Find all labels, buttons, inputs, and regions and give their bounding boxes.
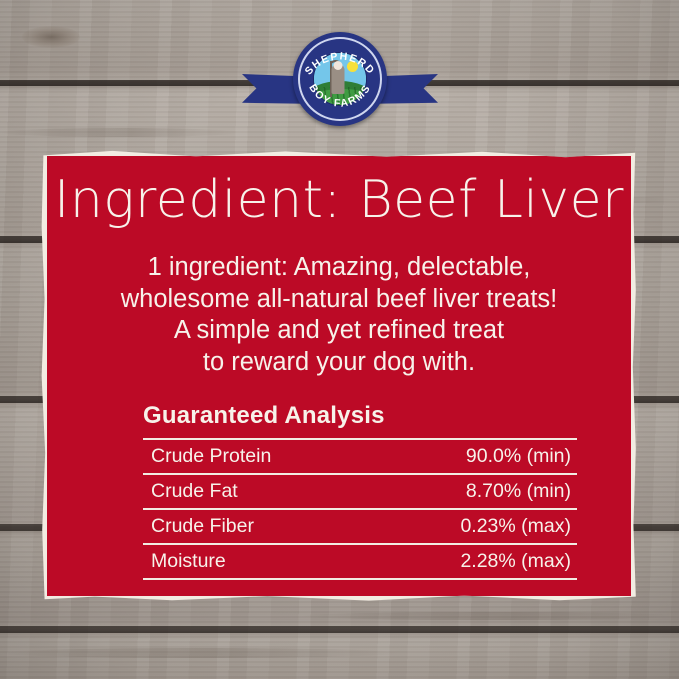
analysis-nutrient-value: 2.28% (max) (460, 550, 571, 573)
product-label-card: Ingredient: Beef Liver 1 ingredient: Ama… (41, 150, 637, 602)
brand-logo: SHEPHERD BOY FARMS (236, 32, 444, 128)
description-line: A simple and yet refined treat (73, 315, 605, 347)
analysis-nutrient-value: 0.23% (max) (460, 515, 571, 538)
guaranteed-analysis-table: Guaranteed Analysis Crude Protein 90.0% … (143, 402, 577, 580)
sun-icon (347, 61, 358, 72)
table-row: Moisture 2.28% (max) (143, 545, 577, 578)
wood-grain-streak (0, 648, 400, 658)
description-line: wholesome all-natural beef liver treats! (73, 284, 605, 316)
product-description: 1 ingredient: Amazing, delectable, whole… (73, 252, 605, 378)
logo-badge: SHEPHERD BOY FARMS (293, 32, 387, 126)
wood-knot (22, 26, 80, 48)
page-title: Ingredient: Beef Liver (47, 174, 631, 226)
table-row: Crude Protein 90.0% (min) (143, 440, 577, 473)
analysis-nutrient-name: Crude Protein (151, 445, 271, 468)
analysis-nutrient-value: 8.70% (min) (466, 480, 571, 503)
table-rule (143, 578, 577, 580)
analysis-nutrient-name: Crude Fiber (151, 515, 254, 538)
table-row: Crude Fat 8.70% (min) (143, 475, 577, 508)
table-row: Crude Fiber 0.23% (max) (143, 510, 577, 543)
logo-scene (313, 52, 367, 106)
analysis-nutrient-name: Crude Fat (151, 480, 238, 503)
label-red-field: Ingredient: Beef Liver 1 ingredient: Ama… (47, 156, 631, 596)
description-line: to reward your dog with. (73, 347, 605, 379)
wood-grain-streak (300, 612, 679, 620)
analysis-nutrient-value: 90.0% (min) (466, 445, 571, 468)
shepherd-head-icon (334, 61, 343, 70)
description-line: 1 ingredient: Amazing, delectable, (73, 252, 605, 284)
wood-grain-streak (0, 128, 240, 137)
analysis-nutrient-name: Moisture (151, 550, 226, 573)
guaranteed-analysis-title: Guaranteed Analysis (143, 402, 577, 430)
product-label-scene: SHEPHERD BOY FARMS Ingredient: Beef Live… (0, 0, 679, 679)
